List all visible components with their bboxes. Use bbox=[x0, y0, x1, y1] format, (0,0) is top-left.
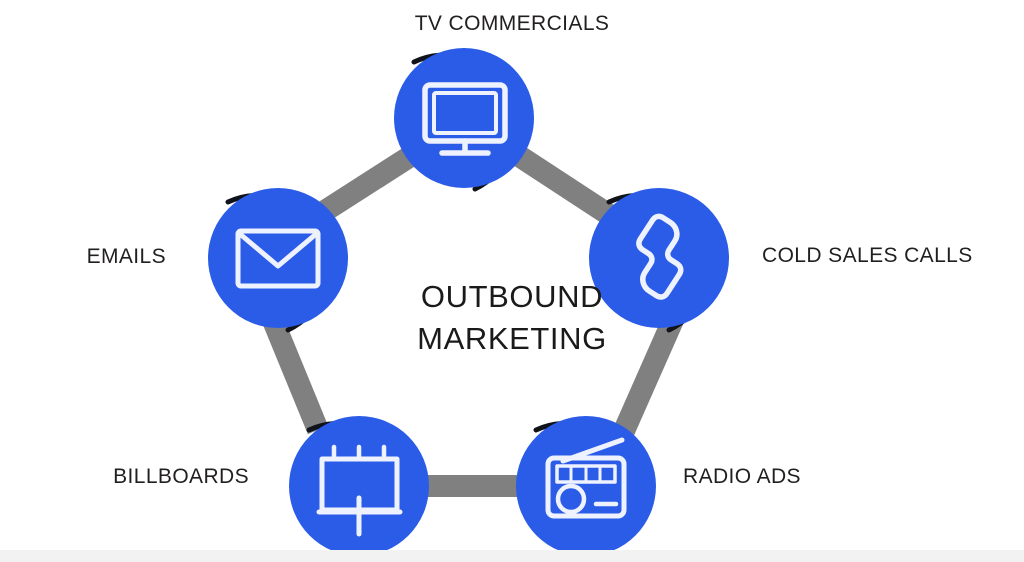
node-circle-tv bbox=[394, 48, 534, 188]
center-title-line-1: OUTBOUND bbox=[0, 276, 1024, 318]
label-billboards: BILLBOARDS bbox=[0, 465, 249, 489]
center-title-line-2: MARKETING bbox=[0, 318, 1024, 360]
node-circle-radio bbox=[516, 416, 656, 556]
node-radio-ads[interactable] bbox=[516, 416, 656, 558]
connector-tv-commercials-to-cold-sales-calls bbox=[510, 150, 620, 222]
bottom-strip bbox=[0, 550, 1024, 562]
diagram-canvas: OUTBOUND MARKETING TV COMMERCIALS COLD S… bbox=[0, 0, 1024, 562]
label-cold-sales-calls: COLD SALES CALLS bbox=[762, 244, 973, 268]
node-tv-commercials[interactable] bbox=[394, 48, 534, 189]
label-radio-ads: RADIO ADS bbox=[683, 465, 801, 489]
label-tv-commercials: TV COMMERCIALS bbox=[0, 12, 1024, 36]
node-billboards[interactable] bbox=[289, 416, 429, 558]
center-title: OUTBOUND MARKETING bbox=[0, 276, 1024, 360]
label-emails: EMAILS bbox=[0, 245, 166, 269]
